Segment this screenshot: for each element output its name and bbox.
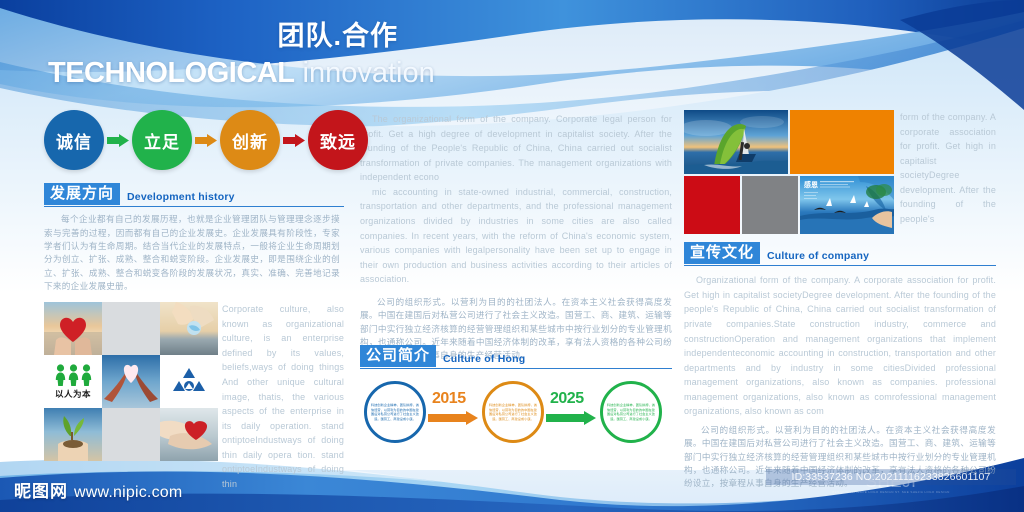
value-circle-1-label: 诚信 bbox=[56, 128, 92, 153]
svg-text:感恩: 感恩 bbox=[804, 180, 818, 189]
promotion-section-header: 宣传文化 Culture of company bbox=[684, 242, 996, 266]
timeline-node-3[interactable]: 科技创新企业精神，团队拼搏，诚信经营，以营利为目的的中国在建国后对私营公司进行了… bbox=[600, 381, 662, 443]
triangle-logo-cell bbox=[160, 355, 218, 408]
company-profile-section: 公司简介 Culture of Hong 科技创新企业精神，团队拼搏，诚信经营，… bbox=[360, 345, 672, 443]
development-section-title-cn: 发展方向 bbox=[44, 183, 120, 205]
logo-line-3: BENNIUS ELITEAPE LOGO DESIGN ST. SHE SHE… bbox=[819, 491, 963, 494]
value-circle-4-label: 致远 bbox=[320, 128, 356, 153]
promotion-culture-section: 感恩 bbox=[684, 110, 996, 492]
promotion-paragraph-en: Organizational form of the company. A co… bbox=[684, 273, 996, 419]
photo-placeholder-red bbox=[684, 176, 740, 234]
timeline-node-2[interactable]: 科技创新企业精神，团队拼搏，诚信经营，以营利为目的的中国在建国后对私营公司进行了… bbox=[482, 381, 544, 443]
timeline-connector-2: 2025 bbox=[544, 392, 600, 432]
photo-placeholder-grey-2 bbox=[102, 408, 160, 461]
arrow-icon-3 bbox=[283, 134, 305, 147]
arrow-icon-1 bbox=[107, 134, 129, 147]
people-first-label: 以人为本 bbox=[55, 388, 91, 400]
person-icon bbox=[68, 364, 79, 386]
asset-id-text: ID:33537236 NO:20211116233826601107 bbox=[766, 469, 1016, 485]
value-circle-3-label: 创新 bbox=[232, 128, 268, 153]
photo-placeholder-grey-3 bbox=[742, 176, 798, 234]
company-profile-header: 公司简介 Culture of Hong bbox=[360, 345, 672, 369]
promotion-section-title-en: Culture of company bbox=[767, 250, 869, 264]
page-title-cn: 团队.合作 bbox=[48, 22, 398, 52]
person-icon bbox=[55, 364, 66, 386]
value-circle-2-label: 立足 bbox=[144, 128, 180, 153]
photo-seaside-poster: 感恩 bbox=[800, 176, 894, 234]
development-paragraph-cn: 每个企业都有自己的发展历程，也就是企业管理团队与管理理念逐步摸索与完善的过程，因… bbox=[44, 214, 340, 294]
value-circle-3[interactable]: 创新 bbox=[220, 110, 280, 170]
page-title-en: TECHNOLOGICAL innovation bbox=[48, 58, 398, 88]
watermark-brand: 昵图网 www.nipic.com bbox=[14, 477, 182, 502]
company-timeline: 科技创新企业精神，团队拼搏，诚信经营，以营利为目的的中国在建国后对私营公司进行了… bbox=[364, 381, 672, 443]
people-first-icon-cell: 以人为本 bbox=[44, 355, 102, 408]
photo-placeholder-orange bbox=[790, 110, 894, 174]
photo-hand-seedling bbox=[44, 408, 102, 461]
timeline-arrow-icon-2 bbox=[546, 411, 596, 430]
culture-photo-block: 以人为本 bbox=[44, 302, 344, 492]
photo-hand-globe bbox=[160, 302, 218, 355]
timeline-connector-1: 2015 bbox=[426, 392, 482, 432]
promo-image-block: 感恩 bbox=[684, 110, 996, 234]
promo-side-paragraph: form of the company. A corporate associa… bbox=[900, 110, 996, 234]
company-profile-title-cn: 公司简介 bbox=[360, 345, 436, 367]
person-icon bbox=[81, 364, 92, 386]
photo-placeholder-grey-1 bbox=[102, 302, 160, 355]
photo-grid: 以人为本 bbox=[44, 302, 218, 492]
development-section-title-en: Development history bbox=[127, 191, 235, 205]
org-form-paragraph-1: The organizational form of the company. … bbox=[360, 112, 672, 185]
company-profile-title-en: Culture of Hong bbox=[443, 353, 525, 367]
timeline-node-2-text: 科技创新企业精神，团队拼搏，诚信经营，以营利为目的的中国在建国后对私营公司进行了… bbox=[488, 403, 538, 421]
watermark-brand-cn: 昵图网 bbox=[14, 477, 68, 502]
value-circle-1[interactable]: 诚信 bbox=[44, 110, 104, 170]
timeline-arrow-icon-1 bbox=[428, 411, 478, 430]
page-title-en-light: innovation bbox=[303, 57, 435, 89]
development-section: 发展方向 Development history 每个企业都有自己的发展历程，也… bbox=[44, 183, 344, 492]
values-circle-row: 诚信 立足 创新 致远 bbox=[44, 110, 368, 170]
timeline-year-2015: 2015 bbox=[432, 390, 466, 408]
poster-canvas: 团队.合作 TECHNOLOGICAL innovation 诚信 立足 创新 … bbox=[0, 0, 1024, 512]
timeline-node-1[interactable]: 科技创新企业精神，团队拼搏，诚信经营，以营利为目的的中国在建国后对私营公司进行了… bbox=[364, 381, 426, 443]
photo-hands-heart-sunset bbox=[44, 302, 102, 355]
triangle-logo-icon bbox=[172, 367, 206, 397]
value-circle-2[interactable]: 立足 bbox=[132, 110, 192, 170]
promo-image-row-1 bbox=[684, 110, 894, 174]
photo-hands-small-heart bbox=[160, 408, 218, 461]
timeline-node-1-text: 科技创新企业精神，团队拼搏，诚信经营，以营利为目的的中国在建国后对私营公司进行了… bbox=[370, 403, 420, 421]
development-section-header: 发展方向 Development history bbox=[44, 183, 344, 207]
watermark-brand-url: www.nipic.com bbox=[74, 484, 182, 502]
promo-image-row-2: 感恩 bbox=[684, 176, 894, 234]
timeline-year-2025: 2025 bbox=[550, 390, 584, 408]
promo-image-grid: 感恩 bbox=[684, 110, 894, 234]
corporate-culture-paragraph: Corporate culture, also known as organiz… bbox=[222, 302, 344, 492]
arrow-icon-2 bbox=[195, 134, 217, 147]
page-title-en-bold: TECHNOLOGICAL bbox=[48, 57, 294, 89]
promotion-section-title-cn: 宣传文化 bbox=[684, 242, 760, 264]
value-circle-4[interactable]: 致远 bbox=[308, 110, 368, 170]
people-icon-group bbox=[55, 364, 92, 386]
photo-hands-forming-heart bbox=[102, 355, 160, 408]
footer-logo-area: LOGO BENNIUSJ SHEJI BENNIUS ELITEAPE LOG… bbox=[766, 456, 1016, 498]
org-form-paragraph-2: mic accounting in state-owned industrial… bbox=[360, 185, 672, 287]
poster-header: 团队.合作 TECHNOLOGICAL innovation bbox=[48, 22, 688, 88]
timeline-node-3-text: 科技创新企业精神，团队拼搏，诚信经营，以营利为目的的中国在建国后对私营公司进行了… bbox=[606, 403, 656, 421]
organizational-form-section: The organizational form of the company. … bbox=[360, 112, 672, 364]
photo-windsurfer bbox=[684, 110, 788, 174]
